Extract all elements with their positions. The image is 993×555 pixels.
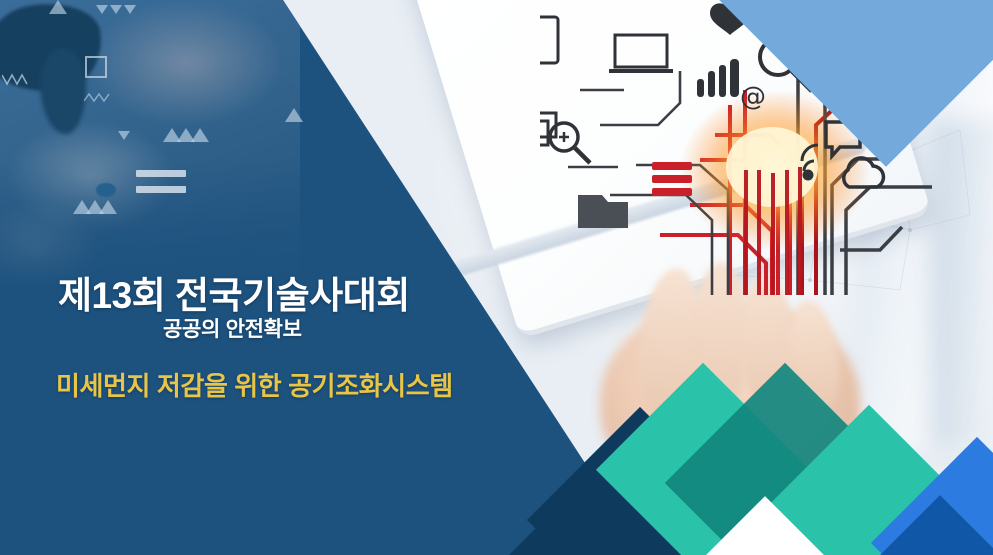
triangle-down-icon <box>118 131 130 140</box>
page-subtitle: 공공의 안전확보 <box>163 313 302 343</box>
server-stack-icon <box>652 162 692 196</box>
laptop-icon <box>609 35 673 71</box>
triangle-up-icon <box>99 200 117 214</box>
triangle-down-icon <box>110 5 122 14</box>
white-bar <box>136 170 186 177</box>
zigzag-line-icon <box>84 92 114 104</box>
blue-dot-shape <box>96 183 116 197</box>
svg-text:@: @ <box>740 82 766 112</box>
triangle-down-icon <box>96 5 108 14</box>
tablet-icon <box>540 17 558 63</box>
bar-chart-icon <box>697 59 739 97</box>
page-title: 제13회 전국기술사대회 <box>58 265 410 319</box>
triangle-up-icon <box>191 128 209 142</box>
triangle-up-icon <box>285 108 303 122</box>
square-outline-icon <box>85 56 107 78</box>
triangle-down-icon <box>124 5 136 14</box>
zigzag-line-icon <box>2 72 30 86</box>
folder-icon <box>578 195 628 228</box>
triangle-up-icon <box>49 0 67 14</box>
title-slide: @ <box>0 0 993 555</box>
at-sign-icon: @ <box>740 82 766 112</box>
page-tagline: 미세먼지 저감을 위한 공기조화시스템 <box>56 366 453 403</box>
white-bar <box>136 186 186 193</box>
